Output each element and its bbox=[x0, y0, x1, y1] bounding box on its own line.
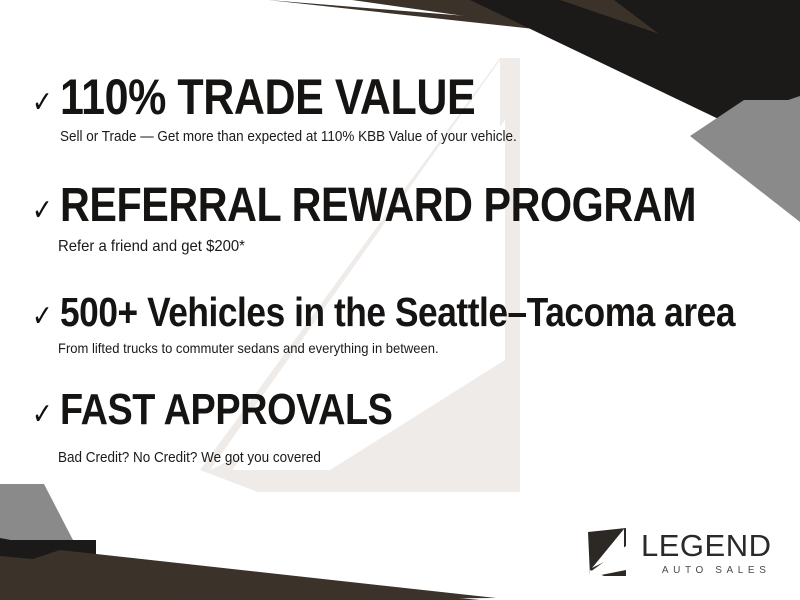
promo-banner: ✓ 110% TRADE VALUE Sell or Trade — Get m… bbox=[0, 0, 800, 600]
feature-subline: Sell or Trade — Get more than expected a… bbox=[60, 129, 517, 145]
feature-subline: From lifted trucks to commuter sedans an… bbox=[58, 340, 790, 356]
logo-wordmark: LEGEND AUTO SALES bbox=[641, 528, 771, 576]
feature-headline: REFERRAL REWARD PROGRAM bbox=[60, 183, 696, 229]
check-icon: ✓ bbox=[32, 88, 53, 118]
feature-headline-row: ✓ 110% TRADE VALUE bbox=[32, 74, 551, 122]
check-icon: ✓ bbox=[32, 400, 53, 430]
feature-item: ✓ 110% TRADE VALUE Sell or Trade — Get m… bbox=[32, 74, 551, 145]
feature-item: ✓ REFERRAL REWARD PROGRAM Refer a friend… bbox=[32, 183, 800, 256]
check-icon: ✓ bbox=[32, 196, 53, 226]
check-icon: ✓ bbox=[32, 302, 53, 332]
feature-headline: 500+ Vehicles in the Seattle–Tacoma area bbox=[60, 293, 735, 332]
feature-item: ✓ 500+ Vehicles in the Seattle–Tacoma ar… bbox=[32, 293, 800, 356]
feature-subline: Bad Credit? No Credit? We got you covere… bbox=[58, 450, 419, 466]
brand-tagline: AUTO SALES bbox=[641, 565, 771, 576]
legend-mark-icon bbox=[586, 526, 632, 578]
feature-item: ✓ FAST APPROVALS Bad Credit? No Credit? … bbox=[32, 389, 447, 466]
brand-name: LEGEND bbox=[641, 530, 771, 561]
feature-headline: FAST APPROVALS bbox=[60, 389, 392, 431]
feature-subline: Refer a friend and get $200* bbox=[58, 238, 748, 256]
feature-headline-row: ✓ REFERRAL REWARD PROGRAM bbox=[32, 183, 800, 229]
feature-headline-row: ✓ 500+ Vehicles in the Seattle–Tacoma ar… bbox=[32, 293, 800, 332]
feature-headline-row: ✓ FAST APPROVALS bbox=[32, 389, 447, 431]
brand-logo: LEGEND AUTO SALES bbox=[586, 526, 771, 578]
feature-headline: 110% TRADE VALUE bbox=[60, 74, 475, 122]
feature-list: ✓ 110% TRADE VALUE Sell or Trade — Get m… bbox=[0, 0, 800, 600]
